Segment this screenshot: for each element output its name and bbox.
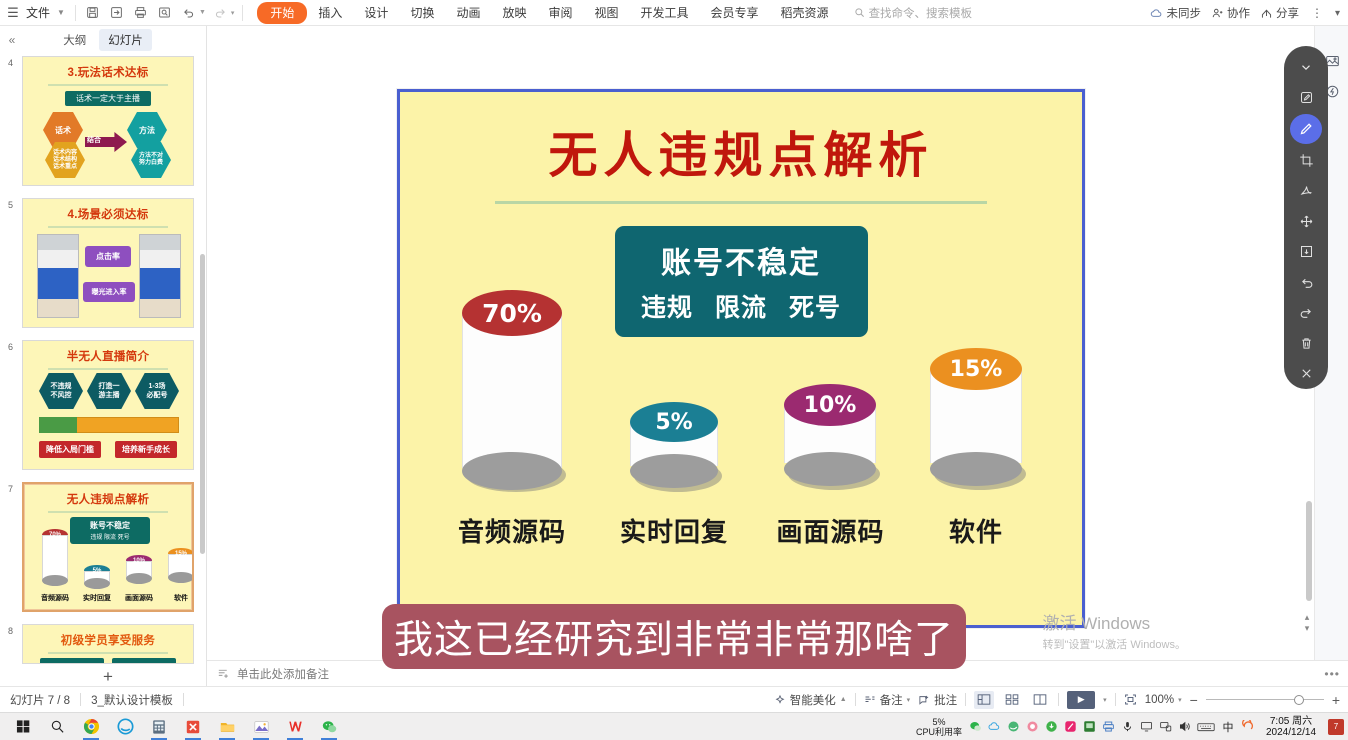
tab-start[interactable]: 开始 bbox=[257, 2, 307, 24]
arrow-label: 结合 bbox=[87, 135, 101, 145]
thumb-title: 3.玩法话术达标 bbox=[23, 64, 193, 80]
collapse-ribbon-icon[interactable]: ▾ bbox=[1335, 8, 1342, 19]
chart-bar-2: 5% bbox=[630, 402, 718, 510]
thumb-bar-2: 5% bbox=[84, 565, 110, 589]
cta-2: 培养新手成长 bbox=[115, 441, 177, 458]
chevron-double-left-icon[interactable]: « bbox=[4, 32, 20, 48]
reading-view-icon[interactable] bbox=[1030, 691, 1050, 709]
undo-icon[interactable] bbox=[178, 3, 200, 23]
chevron-down-icon[interactable] bbox=[1290, 53, 1322, 81]
thumb-card-title: 账号不稳定 bbox=[70, 520, 150, 531]
thumb-cat-2: 实时回复 bbox=[76, 593, 118, 603]
progress-bar-segment bbox=[39, 417, 77, 433]
print-preview-icon[interactable] bbox=[154, 3, 176, 23]
ime-icon[interactable]: 中 bbox=[1221, 720, 1235, 734]
divider bbox=[48, 84, 168, 86]
add-notes-icon bbox=[217, 667, 230, 680]
tab-slideshow[interactable]: 放映 bbox=[491, 2, 537, 24]
slide-counter: 幻灯片 7 / 8 bbox=[10, 692, 70, 708]
panel-tabs: 大纲 幻灯片 bbox=[54, 29, 152, 51]
zoom-slider-knob[interactable] bbox=[1294, 695, 1304, 705]
list-item[interactable]: 6 半无人直播简介 不违规不风控 打造一游主播 1-3场必配号 降低入局门槛 培… bbox=[0, 338, 206, 480]
share-button[interactable]: 分享 bbox=[1260, 5, 1299, 21]
volume-icon[interactable] bbox=[1177, 720, 1191, 734]
redo-icon[interactable] bbox=[210, 3, 232, 23]
slides-panel: « 大纲 幻灯片 4 3.玩法话术达标 话术一定大于主播 话术 方法 结 bbox=[0, 26, 207, 686]
comment-label: 批注 bbox=[934, 692, 957, 708]
browser-tray-icon[interactable] bbox=[1006, 720, 1020, 734]
callout-tag-1: 违规 bbox=[641, 294, 693, 322]
divider bbox=[75, 5, 76, 21]
search-icon[interactable] bbox=[40, 714, 74, 740]
slide-thumbnail-8[interactable]: 初级学员享受服务 bbox=[22, 624, 194, 664]
slide-thumbnail-4[interactable]: 3.玩法话术达标 话术一定大于主播 话术 方法 结合 话术内容话术结构话术重点 … bbox=[22, 56, 194, 186]
taskbar-tray: 5% CPU利用率 中 7:05 周六 bbox=[916, 716, 1344, 738]
notes-placeholder: 单击此处添加备注 bbox=[237, 666, 329, 682]
zoom-slider[interactable] bbox=[1206, 694, 1324, 706]
callout-tags: 违规 限流 死号 bbox=[615, 288, 868, 324]
chart-category-4: 软件 bbox=[906, 512, 1046, 549]
slide-number: 6 bbox=[8, 342, 13, 352]
slide-thumbnail-7[interactable]: 无人违规点解析 账号不稳定 违规 限流 死号 70% bbox=[22, 482, 194, 612]
list-item[interactable]: 5 4.场景必须达标 点击率 曝光进入率 bbox=[0, 196, 206, 338]
cloud-icon[interactable] bbox=[987, 720, 1001, 734]
normal-view-icon[interactable] bbox=[974, 691, 994, 709]
subtitle-caption[interactable]: 我这已经研究到非常非常那啥了 bbox=[382, 604, 966, 669]
move-icon[interactable] bbox=[1290, 207, 1322, 235]
chart-category-2: 实时回复 bbox=[604, 512, 744, 549]
divider bbox=[80, 693, 81, 706]
taskbar-apps bbox=[0, 714, 346, 740]
greenshot-icon[interactable] bbox=[1082, 720, 1096, 734]
excel-icon[interactable] bbox=[176, 714, 210, 740]
smart-beautify-button[interactable]: 智能美化 ▲ bbox=[774, 692, 847, 708]
slide-number: 7 bbox=[8, 484, 13, 494]
fit-to-window-icon[interactable] bbox=[1124, 693, 1137, 706]
divider bbox=[855, 693, 856, 706]
print-icon[interactable] bbox=[130, 3, 152, 23]
thumb-title: 半无人直播简介 bbox=[23, 348, 193, 364]
pdf-icon[interactable] bbox=[1290, 177, 1322, 205]
customize-icon[interactable]: ▾ bbox=[231, 9, 235, 17]
ribbon: ☰ 文件 ▼ ▼ ▾ bbox=[0, 0, 1348, 26]
calculator-icon[interactable] bbox=[142, 714, 176, 740]
chart-bar-4: 15% bbox=[930, 348, 1022, 510]
watermark-line1: 激活 Windows bbox=[1043, 609, 1187, 634]
pen-icon[interactable] bbox=[1290, 114, 1322, 144]
chip-exposure: 曝光进入率 bbox=[83, 282, 135, 302]
thumb-card-sub: 违规 限流 死号 bbox=[70, 532, 150, 541]
divider bbox=[48, 511, 168, 513]
cpu-usage-value: 5% bbox=[916, 717, 962, 727]
zoom-out-button[interactable]: − bbox=[1190, 692, 1198, 708]
callout-tag-2: 限流 bbox=[715, 294, 767, 322]
list-item[interactable]: 8 初级学员享受服务 + bbox=[0, 622, 206, 686]
chart-bar-1: 70% bbox=[462, 290, 562, 510]
wps-icon[interactable] bbox=[278, 714, 312, 740]
ribbon-tabs: 开始 插入 设计 切换 动画 放映 审阅 视图 开发工具 会员专享 稻壳资源 bbox=[257, 2, 839, 24]
clock-time: 7:05 周六 bbox=[1260, 716, 1322, 727]
play-dropdown-icon[interactable]: ▾ bbox=[1103, 696, 1107, 704]
zoom-level-label: 100% bbox=[1145, 694, 1174, 706]
chart-category-3: 画面源码 bbox=[758, 512, 903, 549]
phone-screenshot-left bbox=[37, 234, 79, 318]
zoom-level[interactable]: 100% ▾ bbox=[1145, 694, 1182, 706]
slide-number: 5 bbox=[8, 200, 13, 210]
thumb-bars bbox=[23, 658, 193, 664]
chart-bar-3: 10% bbox=[784, 384, 876, 510]
more-dots-icon[interactable]: ••• bbox=[1324, 667, 1340, 681]
more-options-icon[interactable]: ⋮ bbox=[1309, 6, 1325, 20]
tab-resources[interactable]: 稻壳资源 bbox=[770, 2, 840, 24]
app2-tray-icon[interactable] bbox=[1063, 720, 1077, 734]
template-name[interactable]: 3_默认设计模板 bbox=[91, 692, 173, 708]
status-right: 智能美化 ▲ 备注 ▾ 批注 ▶ bbox=[774, 691, 1340, 709]
thumb-title: 4.场景必须达标 bbox=[23, 206, 193, 222]
wechat-icon[interactable] bbox=[312, 714, 346, 740]
tab-view[interactable]: 视图 bbox=[584, 2, 630, 24]
status-left: 幻灯片 7 / 8 3_默认设计模板 bbox=[0, 692, 184, 708]
collaborate-label: 协作 bbox=[1227, 5, 1250, 21]
keyboard-icon[interactable] bbox=[1196, 720, 1216, 734]
collaborate-icon bbox=[1211, 7, 1224, 20]
close-icon[interactable] bbox=[1290, 360, 1322, 388]
download-icon[interactable] bbox=[1044, 720, 1058, 734]
chrome-icon[interactable] bbox=[74, 714, 108, 740]
thumb-diagram: 不违规不风控 打造一游主播 1-3场必配号 降低入局门槛 培养新手成长 bbox=[23, 373, 193, 461]
comment-icon bbox=[918, 694, 930, 706]
search-box[interactable]: 查找命令、搜索模板 bbox=[854, 5, 973, 21]
tab-developer[interactable]: 开发工具 bbox=[630, 2, 700, 24]
file-menu-button[interactable]: 文件 ▼ bbox=[26, 4, 69, 21]
thumb-cat-4: 软件 bbox=[160, 593, 194, 603]
chart-category-1: 音频源码 bbox=[442, 512, 582, 549]
thumb-badge: 话术一定大于主播 bbox=[65, 91, 151, 106]
windows-taskbar: 5% CPU利用率 中 7:05 周六 bbox=[0, 712, 1348, 740]
save-as-icon[interactable] bbox=[106, 3, 128, 23]
tab-animation[interactable]: 动画 bbox=[445, 2, 491, 24]
callout-headline: 账号不稳定 bbox=[615, 238, 868, 282]
sync-status-label: 未同步 bbox=[1166, 5, 1201, 21]
tab-slides[interactable]: 幻灯片 bbox=[99, 29, 152, 51]
thumb-bar-1: 70% bbox=[42, 529, 68, 586]
tab-outline[interactable]: 大纲 bbox=[54, 29, 95, 51]
divider bbox=[1115, 693, 1116, 706]
crop-icon[interactable] bbox=[1290, 146, 1322, 174]
network-icon[interactable] bbox=[1158, 720, 1172, 734]
tab-member[interactable]: 会员专享 bbox=[700, 2, 770, 24]
collaborate-button[interactable]: 协作 bbox=[1211, 5, 1250, 21]
status-bar: 幻灯片 7 / 8 3_默认设计模板 智能美化 ▲ 备注 ▾ 批注 bbox=[0, 686, 1348, 712]
chart-bar-value-1: 70% bbox=[462, 290, 562, 336]
clock[interactable]: 7:05 周六 2024/12/14 bbox=[1260, 716, 1322, 738]
thumb-title: 无人违规点解析 bbox=[24, 491, 192, 507]
notes-toggle-button[interactable]: 备注 ▾ bbox=[864, 692, 911, 708]
slide-thumbnail-list[interactable]: 4 3.玩法话术达标 话术一定大于主播 话术 方法 结合 话术内容话术结构话术重… bbox=[0, 54, 206, 686]
cpu-usage-label: CPU利用率 bbox=[916, 727, 962, 737]
slide-number: 8 bbox=[8, 626, 13, 636]
list-item[interactable]: 4 3.玩法话术达标 话术一定大于主播 话术 方法 结合 话术内容话术结构话术重… bbox=[0, 54, 206, 196]
play-icon[interactable]: ▶ bbox=[1067, 691, 1095, 709]
chart-bar-value-4: 15% bbox=[930, 348, 1022, 390]
sync-status-button[interactable]: 未同步 bbox=[1150, 5, 1201, 21]
share-icon bbox=[1260, 7, 1273, 20]
thumb-diagram: 话术 方法 结合 话术内容话术结构话术重点 方法不对努力白费 bbox=[23, 110, 193, 176]
thumb-title: 初级学员享受服务 bbox=[23, 632, 193, 648]
menu-hamburger-icon[interactable]: ☰ bbox=[0, 5, 26, 21]
photos-icon[interactable] bbox=[244, 714, 278, 740]
divider bbox=[965, 693, 966, 706]
slide-canvas-area: 无人违规点解析 账号不稳定 违规 限流 死号 70% 音频源码 bbox=[207, 26, 1348, 660]
thumb-card: 账号不稳定 违规 限流 死号 bbox=[70, 517, 150, 544]
cpu-usage-indicator[interactable]: 5% CPU利用率 bbox=[916, 717, 962, 737]
smart-beautify-label: 智能美化 bbox=[790, 692, 836, 708]
chevron-down-icon: ▾ bbox=[907, 696, 911, 704]
slides-panel-header: « 大纲 幻灯片 bbox=[0, 26, 206, 54]
zoom-in-button[interactable]: + bbox=[1332, 692, 1340, 708]
title-underline bbox=[495, 201, 987, 204]
hex-2: 打造一游主播 bbox=[87, 373, 131, 409]
thumb-chart: 账号不稳定 违规 限流 死号 70% 5% bbox=[24, 515, 192, 607]
thumb-bar-3: 10% bbox=[126, 555, 152, 584]
wechat-tray-icon[interactable] bbox=[968, 720, 982, 734]
file-explorer-icon[interactable] bbox=[210, 714, 244, 740]
slide-number: 4 bbox=[8, 58, 13, 68]
app-tray-icon[interactable] bbox=[1025, 720, 1039, 734]
chip-ctr: 点击率 bbox=[85, 246, 131, 267]
slide-thumbnail-6[interactable]: 半无人直播简介 不违规不风控 打造一游主播 1-3场必配号 降低入局门槛 培养新… bbox=[22, 340, 194, 470]
clock-date: 2024/12/14 bbox=[1260, 727, 1322, 738]
cloud-sync-icon bbox=[1150, 7, 1163, 20]
chevron-down-icon: ▼ bbox=[57, 8, 65, 17]
slides-panel-scrollbar[interactable] bbox=[200, 254, 205, 554]
undo-dropdown-icon[interactable]: ▼ bbox=[199, 9, 206, 16]
phone-screenshot-right bbox=[139, 234, 181, 318]
chevron-down-icon: ▾ bbox=[1178, 696, 1182, 704]
cta-1: 降低入局门槛 bbox=[39, 441, 101, 458]
thumb-cat-1: 音频源码 bbox=[34, 593, 76, 603]
thumb-diagram: 点击率 曝光进入率 bbox=[23, 232, 193, 322]
windows-activation-watermark: 激活 Windows 转到"设置"以激活 Windows。 bbox=[1043, 609, 1187, 652]
hex-sub-left: 话术内容话术结构话术重点 bbox=[45, 142, 85, 178]
slide-sorter-icon[interactable] bbox=[1002, 691, 1022, 709]
slide-thumbnail-5[interactable]: 4.场景必须达标 点击率 曝光进入率 bbox=[22, 198, 194, 328]
file-menu-label: 文件 bbox=[26, 4, 50, 21]
divider bbox=[48, 652, 168, 654]
undo-icon[interactable] bbox=[1290, 268, 1322, 296]
search-placeholder: 查找命令、搜索模板 bbox=[869, 5, 973, 21]
slide-callout-card[interactable]: 账号不稳定 违规 限流 死号 bbox=[615, 226, 868, 337]
scroll-arrows-icon[interactable]: ▴▾ bbox=[1300, 612, 1314, 634]
hex-3: 1-3场必配号 bbox=[135, 373, 179, 409]
redo-icon[interactable] bbox=[1290, 299, 1322, 327]
chevron-up-icon: ▲ bbox=[840, 696, 847, 703]
notes-icon bbox=[864, 694, 876, 706]
list-item[interactable]: 7 无人违规点解析 账号不稳定 违规 限流 死号 70% bbox=[0, 480, 206, 622]
divider bbox=[48, 226, 168, 228]
screenshot-edit-icon[interactable] bbox=[1290, 83, 1322, 111]
screen-annotation-toolbar bbox=[1284, 46, 1328, 389]
search-icon bbox=[854, 7, 865, 18]
thumb-bar-4: 15% bbox=[168, 548, 194, 583]
tab-review[interactable]: 审阅 bbox=[537, 2, 583, 24]
divider bbox=[48, 368, 168, 370]
divider bbox=[242, 5, 243, 21]
chart-bar-value-3: 10% bbox=[784, 384, 876, 426]
tray-icons: 中 bbox=[968, 720, 1254, 734]
sparkle-icon bbox=[774, 694, 786, 706]
slide-editor[interactable]: 无人违规点解析 账号不稳定 违规 限流 死号 70% 音频源码 bbox=[397, 89, 1085, 628]
chart-bar-value-2: 5% bbox=[630, 402, 718, 442]
tab-insert[interactable]: 插入 bbox=[307, 2, 353, 24]
share-label: 分享 bbox=[1276, 5, 1299, 21]
slide-title[interactable]: 无人违规点解析 bbox=[400, 116, 1082, 187]
add-slide-button[interactable]: + bbox=[22, 667, 194, 686]
trash-icon[interactable] bbox=[1290, 329, 1322, 357]
display-icon[interactable] bbox=[1139, 720, 1153, 734]
thumb-cat-3: 画面源码 bbox=[118, 593, 160, 603]
tab-transition[interactable]: 切换 bbox=[399, 2, 445, 24]
quick-access-toolbar: ▼ ▾ bbox=[82, 3, 236, 23]
comment-button[interactable]: 批注 bbox=[918, 692, 957, 708]
ribbon-right-actions: 未同步 协作 分享 ⋮ ▾ bbox=[1150, 0, 1342, 26]
edge-icon[interactable] bbox=[108, 714, 142, 740]
notification-badge[interactable]: 7 bbox=[1328, 719, 1344, 735]
divider bbox=[1058, 693, 1059, 706]
watermark-line2: 转到"设置"以激活 Windows。 bbox=[1043, 636, 1187, 652]
hex-1: 不违规不风控 bbox=[39, 373, 83, 409]
divider bbox=[183, 693, 184, 706]
sogou-icon[interactable] bbox=[1240, 720, 1254, 734]
callout-tag-3: 死号 bbox=[789, 294, 841, 322]
printer-icon[interactable] bbox=[1101, 720, 1115, 734]
notes-toggle-label: 备注 bbox=[880, 692, 903, 708]
pin-to-screen-icon[interactable] bbox=[1290, 238, 1322, 266]
save-icon[interactable] bbox=[82, 3, 104, 23]
tab-design[interactable]: 设计 bbox=[353, 2, 399, 24]
start-icon[interactable] bbox=[6, 714, 40, 740]
mic-icon[interactable] bbox=[1120, 720, 1134, 734]
